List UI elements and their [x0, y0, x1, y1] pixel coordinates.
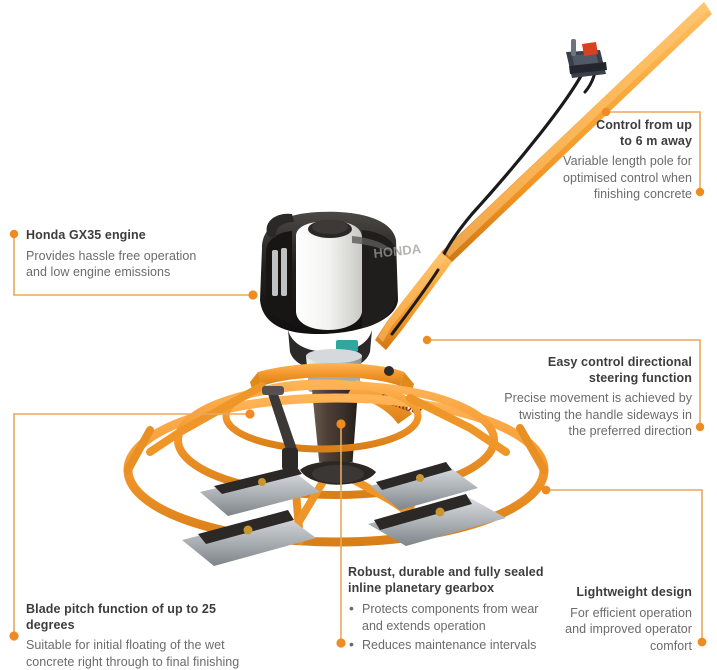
- callout-control-from-up: Control from up to 6 m away Variable len…: [536, 118, 692, 203]
- pole-clamp: [566, 39, 607, 78]
- callout-control-body: Variable length pole for optimised contr…: [536, 153, 692, 203]
- callout-steering-function: Easy control directional steering functi…: [490, 355, 692, 440]
- callout-gearbox-bullets: Protects components from wear and extend…: [348, 601, 548, 654]
- callout-honda-title: Honda GX35 engine: [26, 228, 251, 244]
- callout-steering-body: Precise movement is achieved by twisting…: [490, 390, 692, 440]
- product-image: HONDA Flextool: [0, 0, 717, 662]
- callout-steering-title: Easy control directional steering functi…: [490, 355, 692, 386]
- infographic-canvas: HONDA Flextool: [0, 0, 717, 662]
- list-item: Protects components from wear and extend…: [348, 601, 548, 634]
- callout-honda-body: Provides hassle free operation and low e…: [26, 248, 251, 281]
- callout-gearbox: Robust, durable and fully sealed inline …: [348, 565, 548, 657]
- callout-gearbox-title: Robust, durable and fully sealed inline …: [348, 565, 548, 596]
- honda-engine: HONDA: [260, 212, 422, 370]
- callout-lightweight-body: For efficient operation and improved ope…: [565, 605, 692, 655]
- callout-lightweight-title: Lightweight design: [565, 585, 692, 601]
- callout-blade-body: Suitable for initial floating of the wet…: [26, 637, 261, 670]
- callout-blade-title: Blade pitch function of up to 25 degrees: [26, 602, 261, 633]
- callout-lightweight-design: Lightweight design For efficient operati…: [565, 585, 692, 654]
- callout-honda-engine: Honda GX35 engine Provides hassle free o…: [26, 228, 251, 281]
- list-item: Reduces maintenance intervals: [348, 637, 548, 654]
- callout-blade-pitch: Blade pitch function of up to 25 degrees…: [26, 602, 261, 670]
- callout-control-title: Control from up to 6 m away: [536, 118, 692, 149]
